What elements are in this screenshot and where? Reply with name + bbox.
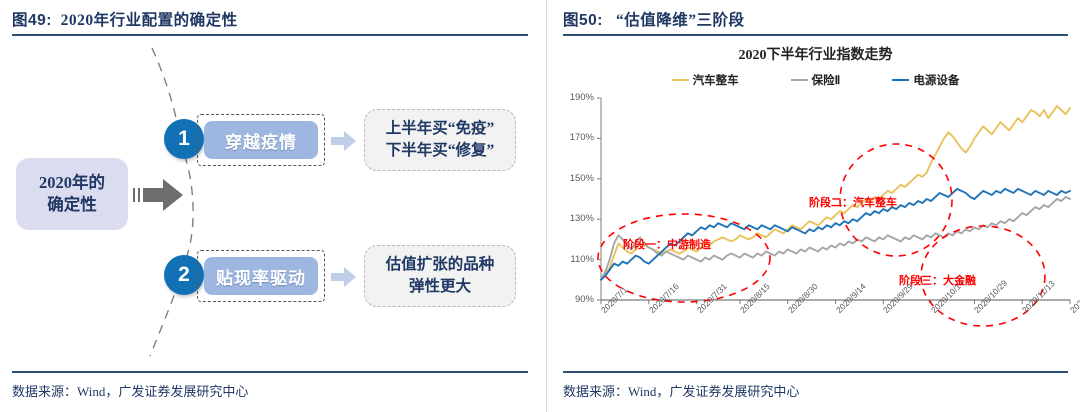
branch-1-conclusion-line1: 上半年买“免疫” [386, 118, 495, 140]
left-figure-title-text: 2020年行业配置的确定性 [61, 12, 238, 29]
right-figure-label: 图50: [563, 12, 603, 29]
chart-title: 2020下半年行业指数走势 [551, 44, 1080, 64]
branch-2-arrow-icon [331, 266, 357, 288]
legend-swatch-1 [791, 79, 808, 82]
phase-1-annotation-label: 阶段一：中游制造 [623, 236, 711, 252]
right-source-text: 数据来源：Wind，广发证券发展研究中心 [563, 381, 799, 400]
y-axis-tick-label: 170% [551, 132, 594, 143]
root-node-line2: 确定性 [47, 194, 97, 216]
legend-swatch-2 [892, 79, 909, 82]
legend-label-0: 汽车整车 [693, 72, 739, 88]
left-figure-label: 图49: [12, 12, 52, 29]
branch-1-conclusion-line2: 下半年买“修复” [386, 140, 495, 162]
certainty-diagram: 2020年的 确定性 1 穿越疫情 上半年买“免疫” 下半年买“修复” [0, 36, 540, 368]
legend-label-1: 保险Ⅱ [812, 72, 841, 88]
root-node-line1: 2020年的 [39, 172, 105, 194]
phase-3-annotation-label: 阶段三：大金融 [899, 272, 976, 288]
branch-1-arrow-icon [331, 130, 357, 152]
branch-2-number: 2 [178, 263, 190, 287]
right-figure-title-text: “估值降维”三阶段 [616, 12, 745, 29]
chart-svg [551, 90, 1080, 370]
index-trend-chart: 2020下半年行业指数走势 汽车整车 保险Ⅱ 电源设备 90%110%130%1… [551, 40, 1080, 370]
figure-pair-page: 图49: 2020年行业配置的确定性 2020年的 确定性 1 [0, 0, 1080, 412]
panel-divider [546, 0, 547, 412]
phase-2-annotation-label: 阶段二：汽车整车 [809, 194, 897, 210]
left-figure-panel: 图49: 2020年行业配置的确定性 2020年的 确定性 1 [0, 0, 540, 412]
branch-2-driver-label: 贴现率驱动 [216, 264, 306, 289]
y-axis-tick-label: 150% [551, 173, 594, 184]
branch-2-conclusion-line2: 弹性更大 [409, 276, 471, 298]
y-axis-tick-label: 130% [551, 213, 594, 224]
chart-legend: 汽车整车 保险Ⅱ 电源设备 [551, 72, 1080, 88]
legend-item-0: 汽车整车 [672, 72, 739, 88]
root-node-box: 2020年的 确定性 [16, 158, 128, 230]
legend-item-2: 电源设备 [892, 72, 959, 88]
branch-1-driver-box: 穿越疫情 [204, 121, 318, 159]
left-source-text: 数据来源：Wind，广发证券发展研究中心 [12, 381, 248, 400]
right-figure-title: 图50: “估值降维”三阶段 [563, 8, 745, 30]
branch-2-conclusion-line1: 估值扩张的品种 [386, 254, 495, 276]
y-axis-tick-label: 90% [551, 294, 594, 305]
branch-1-number: 1 [178, 127, 190, 151]
legend-label-2: 电源设备 [913, 72, 959, 88]
chart-plot-area [551, 90, 1080, 370]
branch-2-conclusion-box: 估值扩张的品种 弹性更大 [364, 245, 516, 307]
legend-swatch-0 [672, 79, 689, 82]
right-title-rule [563, 34, 1068, 36]
left-figure-title: 图49: 2020年行业配置的确定性 [12, 8, 238, 30]
left-source-rule [12, 371, 528, 373]
main-flow-arrow-icon [133, 176, 185, 214]
y-axis-tick-label: 190% [551, 92, 594, 103]
legend-item-1: 保险Ⅱ [791, 72, 841, 88]
right-figure-panel: 图50: “估值降维”三阶段 2020下半年行业指数走势 汽车整车 保险Ⅱ 电源… [551, 0, 1080, 412]
branch-1-conclusion-box: 上半年买“免疫” 下半年买“修复” [364, 109, 516, 171]
y-axis-tick-label: 110% [551, 254, 594, 265]
branch-1-driver-label: 穿越疫情 [225, 128, 297, 153]
branch-2-driver-box: 贴现率驱动 [204, 257, 318, 295]
right-source-rule [563, 371, 1068, 373]
